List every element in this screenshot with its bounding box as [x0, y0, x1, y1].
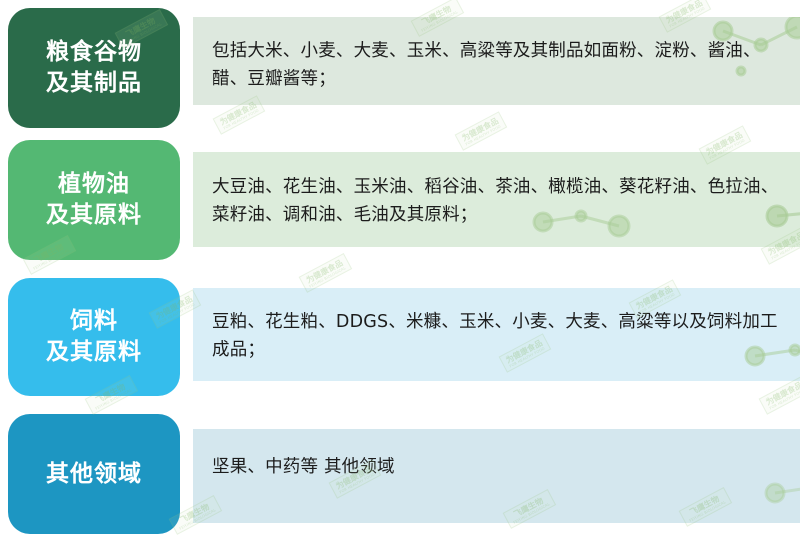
- content-panel-grain: 包括大米、小麦、大麦、玉米、高粱等及其制品如面粉、淀粉、酱油、醋、豆瓣酱等；: [193, 17, 800, 105]
- content-panel-vegetable-oil: 大豆油、花生油、玉米油、稻谷油、茶油、橄榄油、葵花籽油、色拉油、菜籽油、调和油、…: [193, 152, 800, 247]
- label-card-feed[interactable]: 饲料 及其原料: [8, 278, 180, 396]
- label-card-grain[interactable]: 粮食谷物 及其制品: [8, 8, 180, 128]
- content-text-vegetable-oil: 大豆油、花生油、玉米油、稻谷油、茶油、橄榄油、葵花籽油、色拉油、菜籽油、调和油、…: [212, 173, 784, 230]
- watermark-line1: 为健康食品: [764, 380, 800, 407]
- label-card-vegetable-oil[interactable]: 植物油 及其原料: [8, 140, 180, 260]
- label-card-other-fields[interactable]: 其他领域: [8, 414, 180, 534]
- label-text-feed: 饲料 及其原料: [46, 306, 142, 368]
- label-text-vegetable-oil: 植物油 及其原料: [46, 169, 142, 231]
- content-text-grain: 包括大米、小麦、大麦、玉米、高粱等及其制品如面粉、淀粉、酱油、醋、豆瓣酱等；: [212, 37, 784, 94]
- content-panel-other-fields: 坚果、中药等 其他领域: [193, 429, 800, 523]
- category-row-grain: 包括大米、小麦、大麦、玉米、高粱等及其制品如面粉、淀粉、酱油、醋、豆瓣酱等； 粮…: [0, 0, 800, 140]
- label-text-grain: 粮食谷物 及其制品: [46, 37, 142, 99]
- content-text-feed: 豆粕、花生粕、DDGS、米糠、玉米、小麦、大麦、高粱等以及饲料加工成品；: [212, 308, 784, 365]
- watermark-line2: FEIYING BIOLOGICAL: [309, 266, 347, 289]
- label-text-other-fields: 其他领域: [46, 459, 142, 490]
- infographic-canvas: 包括大米、小麦、大麦、玉米、高粱等及其制品如面粉、淀粉、酱油、醋、豆瓣酱等； 粮…: [0, 0, 800, 538]
- content-text-other-fields: 坚果、中药等 其他领域: [212, 453, 784, 481]
- watermark-line1: 为健康食品: [304, 258, 344, 285]
- watermark: 为健康食品 FOR HEALTHY FOOD: [759, 375, 800, 415]
- content-panel-feed: 豆粕、花生粕、DDGS、米糠、玉米、小麦、大麦、高粱等以及饲料加工成品；: [193, 288, 800, 381]
- watermark-line2: FOR HEALTHY FOOD: [769, 388, 800, 410]
